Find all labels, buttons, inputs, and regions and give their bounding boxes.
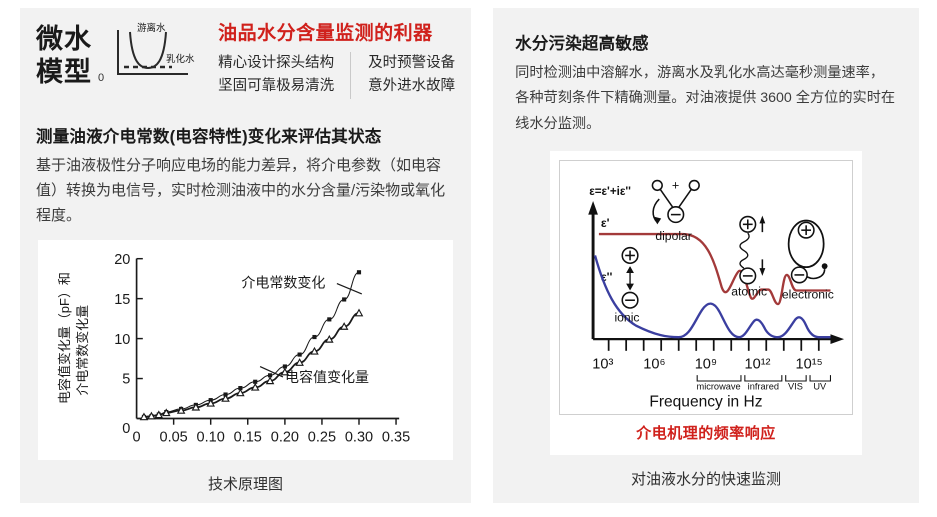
brand-row: 微水 模型 0 游离水 乳化水 (36, 22, 455, 99)
band-label: microwave (697, 382, 741, 392)
left-panel: 微水 模型 0 游离水 乳化水 (20, 8, 471, 503)
dielectric-spectrum-diagram: ε=ε'+iε'' ε' ε'' (560, 161, 852, 414)
brand-line-1: 微水 (36, 23, 92, 56)
dielectric-figure-red-caption: 介电机理的频率响应 (559, 415, 853, 446)
chart-xtick: 0.35 (382, 430, 410, 446)
right-panel-header: 水分污染超高敏感 同时检测油中溶解水，游离水及乳化水高达毫秒测量速率，各种苛刻条… (493, 8, 919, 137)
chart-xtick: 0.05 (160, 430, 188, 446)
chart-xtick: 0.30 (345, 430, 373, 446)
mini-figure-zero-label: 0 (98, 72, 104, 90)
label-ionic: ionic (615, 310, 640, 324)
header-text-block: 油品水分含量监测的利器 精心设计探头结构 坚固可靠极易清洗 及时预警设备 意外进… (208, 22, 455, 99)
left-section-body: 基于油液极性分子响应电场的能力差异，将介电参数（如电容值）转换为电信号，实时检测… (20, 147, 471, 229)
brand-title: 微水 模型 (36, 23, 92, 89)
left-section-title: 测量油液介电常数(电容特性)变化来评估其状态 (20, 112, 471, 147)
brand-block: 微水 模型 0 游离水 乳化水 (36, 22, 200, 90)
right-panel-body: 同时检测油中溶解水，游离水及乳化水高达毫秒测量速率，各种苛刻条件下精确测量。对油… (515, 54, 897, 137)
comparison-layout: 微水 模型 0 游离水 乳化水 (0, 0, 937, 517)
feature-item: 及时预警设备 (368, 52, 455, 75)
label-atomic: atomic (731, 284, 767, 298)
feature-list: 精心设计探头结构 坚固可靠极易清洗 及时预警设备 意外进水故障 (218, 52, 455, 99)
right-panel-title: 水分污染超高敏感 (515, 30, 897, 54)
feature-column-2: 及时预警设备 意外进水故障 (351, 52, 455, 99)
chart-ytick: 15 (114, 292, 130, 308)
dielectric-figure-frame: ε=ε'+iε'' ε' ε'' (559, 160, 853, 415)
freq-tick: 10⁹ (695, 356, 717, 372)
capacitance-dielectric-chart: 电容值变化量（pF）和 介电常数变化量 20 15 10 5 0 (38, 240, 453, 460)
feature-item: 意外进水故障 (368, 75, 455, 98)
feature-item: 坚固可靠极易清洗 (218, 75, 334, 98)
freq-tick: 10⁶ (643, 356, 665, 372)
mini-figure-label-free-water: 游离水 (137, 22, 166, 34)
left-panel-header: 微水 模型 0 游离水 乳化水 (20, 8, 471, 99)
chart-ylabel-line2: 介电常数变化量 (75, 305, 90, 396)
chart-ytick: 10 (114, 332, 130, 348)
band-label: VIS (788, 382, 803, 392)
left-panel-caption: 技术原理图 (20, 460, 471, 508)
label-electronic: electronic (782, 287, 834, 301)
chart-xtick: 0 (133, 430, 141, 446)
chart-ytick: 20 (114, 252, 130, 268)
chart-xtick: 0.10 (197, 430, 225, 446)
chart-annotation-dielectric: 介电常数变化 (241, 275, 325, 291)
chart-marker (342, 298, 346, 302)
chart-ylabel-line1: 电容值变化量（pF）和 (57, 272, 72, 404)
freq-tick: 10¹⁵ (796, 356, 823, 372)
chart-marker (298, 353, 302, 357)
band-label: UV (813, 382, 827, 392)
chart-xtick: 0.15 (234, 430, 262, 446)
chart-marker (357, 271, 361, 275)
water-model-mini-figure: 游离水 乳化水 (110, 22, 200, 88)
chart-ytick: 0 (122, 421, 130, 437)
right-panel: 水分污染超高敏感 同时检测油中溶解水，游离水及乳化水高达毫秒测量速率，各种苛刻条… (493, 8, 919, 503)
chart-ytick: 5 (122, 372, 130, 388)
feature-item: 精心设计探头结构 (218, 52, 334, 75)
freq-tick: 10¹² (745, 356, 771, 372)
label-epsilon-total: ε=ε'+iε'' (589, 185, 631, 198)
feature-column-1: 精心设计探头结构 坚固可靠极易清洗 (218, 52, 350, 99)
band-label: infrared (748, 382, 779, 392)
chart-xtick: 0.20 (271, 430, 299, 446)
svg-text:+: + (672, 178, 679, 192)
label-epsilon-real: ε' (601, 216, 610, 230)
chart-marker (312, 335, 316, 339)
chart-xtick: 0.25 (308, 430, 336, 446)
label-dipolar: dipolar (655, 229, 692, 243)
technical-chart-card: 电容值变化量（pF）和 介电常数变化量 20 15 10 5 0 (38, 240, 453, 460)
brand-line-2: 模型 (36, 56, 92, 89)
right-panel-caption: 对油液水分的快速监测 (493, 455, 919, 503)
mini-figure-label-emulsified-water: 乳化水 (166, 53, 195, 65)
chart-marker (327, 318, 331, 322)
chart-annotation-capacitance: 电容值变化量 (285, 370, 369, 386)
freq-tick: 10³ (592, 356, 613, 372)
dielectric-figure-card: ε=ε'+iε'' ε' ε'' (550, 151, 862, 455)
freq-axis-label: Frequency in Hz (649, 393, 762, 410)
left-panel-red-title: 油品水分含量监测的利器 (218, 23, 455, 46)
